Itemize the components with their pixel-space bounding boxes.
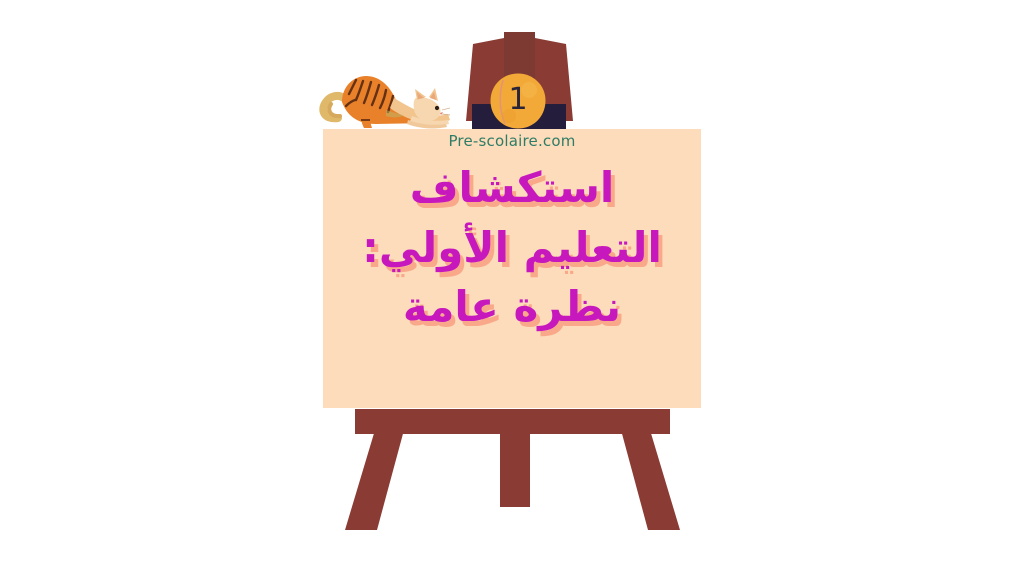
easel-ledge [355,409,670,434]
easel-leg-center [500,430,530,507]
easel-leg-left [345,430,404,530]
easel-board: Pre-scolaire.com استكشاف التعليم الأولي:… [323,129,701,408]
cat-illustration [316,58,456,138]
poster-title: استكشاف التعليم الأولي: نظرة عامة [323,158,701,337]
poster-canvas: 1 [0,0,1024,576]
easel-leg-right [621,430,680,530]
number-badge: 1 [489,72,547,130]
title-line-3: نظرة عامة [323,277,701,337]
title-line-2: التعليم الأولي: [323,218,701,278]
watermark-label: Pre-scolaire.com [448,132,575,150]
badge-number-label: 1 [489,72,547,130]
title-line-1: استكشاف [323,158,701,218]
